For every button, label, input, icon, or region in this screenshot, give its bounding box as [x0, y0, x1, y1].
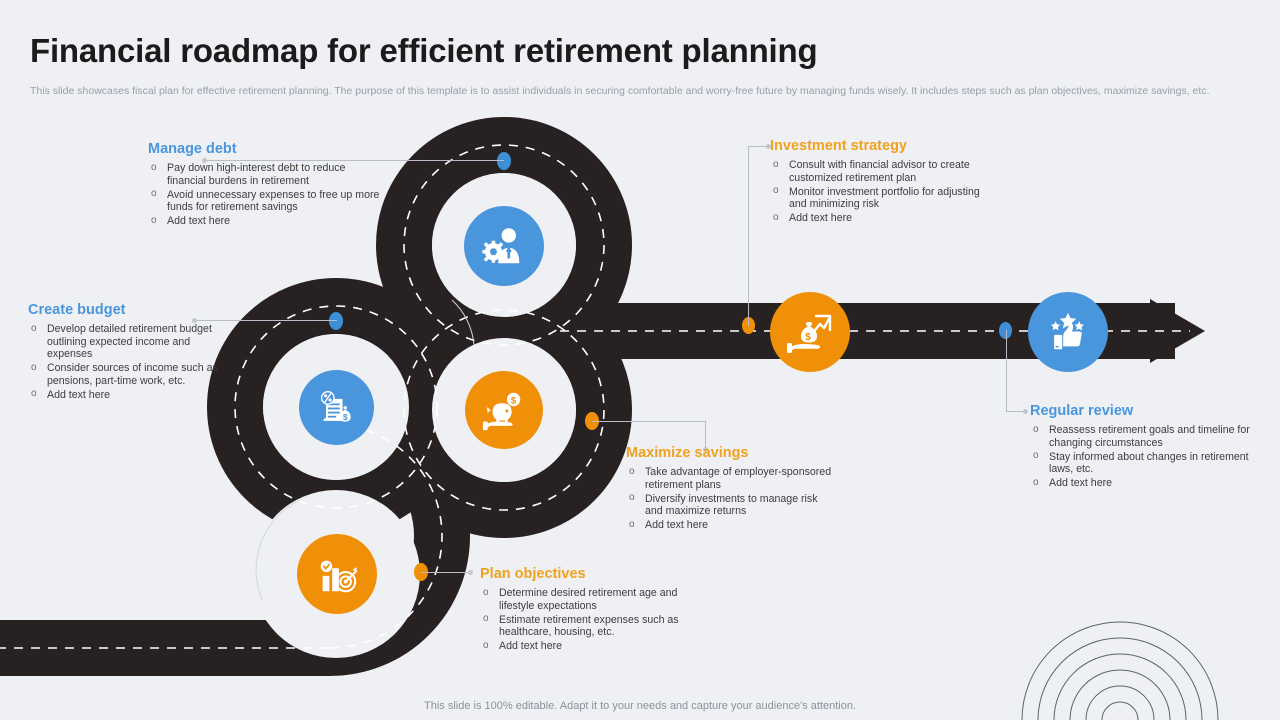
bullet-item: Pay down high-interest debt to reduce fi…	[148, 162, 386, 187]
icon-bubble-maximize-savings[interactable]: $	[465, 371, 543, 449]
step-title-manage-debt: Manage debt	[148, 141, 386, 157]
road-dot-create-budget[interactable]	[329, 312, 343, 330]
hand-money-growth-icon: $	[786, 308, 834, 356]
leader-plan-objectives	[421, 572, 470, 573]
bullet-item: Add text here	[480, 640, 705, 653]
person-gear-icon	[481, 223, 527, 269]
thumbs-up-stars-icon	[1045, 309, 1091, 355]
bullet-item: Add text here	[1030, 477, 1252, 490]
step-title-create-budget: Create budget	[28, 302, 218, 318]
bar-chart-target-icon	[314, 551, 360, 597]
leader-cap-plan-objectives	[468, 570, 473, 575]
road-dot-manage-debt[interactable]	[497, 152, 511, 170]
step-bullets-create-budget: Develop detailed retirement budget outli…	[28, 323, 218, 402]
bullet-item: Monitor investment portfolio for adjusti…	[770, 186, 995, 211]
bullet-item: Add text here	[148, 215, 386, 228]
bullet-item: Diversify investments to manage risk and…	[626, 493, 836, 518]
step-title-regular-review: Regular review	[1030, 403, 1252, 419]
leader-review-vertical	[1006, 330, 1007, 411]
step-block-investment-strategy: Investment strategy Consult with financi…	[770, 138, 995, 226]
bullet-item: Add text here	[770, 212, 995, 225]
svg-text:$: $	[511, 395, 517, 406]
icon-bubble-investment-strategy[interactable]: $	[770, 292, 850, 372]
bullet-item: Determine desired retirement age and lif…	[480, 587, 705, 612]
bullet-item: Avoid unnecessary expenses to free up mo…	[148, 189, 386, 214]
bullet-item: Take advantage of employer-sponsored ret…	[626, 466, 836, 491]
step-title-maximize-savings: Maximize savings	[626, 445, 836, 461]
leader-savings-horizontal	[592, 421, 705, 422]
step-block-create-budget: Create budget Develop detailed retiremen…	[28, 302, 218, 403]
bullet-item: Add text here	[28, 389, 218, 402]
step-bullets-maximize-savings: Take advantage of employer-sponsored ret…	[626, 466, 836, 532]
icon-bubble-create-budget[interactable]: $	[299, 370, 374, 445]
slide-canvas: Financial roadmap for efficient retireme…	[0, 0, 1280, 720]
step-bullets-investment-strategy: Consult with financial advisor to create…	[770, 159, 995, 225]
bullet-item: Consider sources of income such as pensi…	[28, 362, 218, 387]
bullet-item: Develop detailed retirement budget outli…	[28, 323, 218, 361]
bullet-item: Stay informed about changes in retiremen…	[1030, 451, 1252, 476]
step-bullets-manage-debt: Pay down high-interest debt to reduce fi…	[148, 162, 386, 228]
step-title-plan-objectives: Plan objectives	[480, 566, 705, 582]
icon-bubble-plan-objectives[interactable]	[297, 534, 377, 614]
bullet-item: Consult with financial advisor to create…	[770, 159, 995, 184]
svg-text:$: $	[805, 332, 811, 343]
bullet-item: Estimate retirement expenses such as hea…	[480, 614, 705, 639]
icon-bubble-manage-debt[interactable]	[464, 206, 544, 286]
step-title-investment-strategy: Investment strategy	[770, 138, 995, 154]
bullet-item: Add text here	[626, 519, 836, 532]
step-block-regular-review: Regular review Reassess retirement goals…	[1030, 403, 1252, 491]
footer-note: This slide is 100% editable. Adapt it to…	[0, 700, 1280, 712]
invoice-percent-moneybag-icon: $	[315, 386, 359, 430]
leader-cap-regular-review	[1023, 409, 1028, 414]
hand-piggy-bank-icon: $	[481, 387, 527, 433]
step-bullets-plan-objectives: Determine desired retirement age and lif…	[480, 587, 705, 653]
leader-investment-vertical	[748, 146, 749, 326]
step-bullets-regular-review: Reassess retirement goals and timeline f…	[1030, 424, 1252, 490]
icon-bubble-regular-review[interactable]	[1028, 292, 1108, 372]
bullet-item: Reassess retirement goals and timeline f…	[1030, 424, 1252, 449]
step-block-maximize-savings: Maximize savings Take advantage of emplo…	[626, 445, 836, 533]
step-block-manage-debt: Manage debt Pay down high-interest debt …	[148, 141, 386, 229]
step-block-plan-objectives: Plan objectives Determine desired retire…	[480, 566, 705, 654]
svg-text:$: $	[342, 412, 347, 421]
